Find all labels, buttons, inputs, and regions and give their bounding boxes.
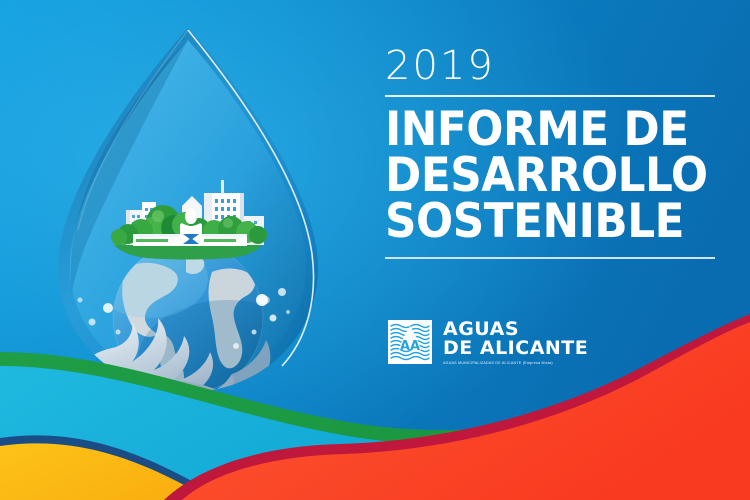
logo-wordmark: AGUAS DE ALICANTE AGUAS MUNICIPALIZADAS … <box>443 320 588 365</box>
title-line-3: SOSTENIBLE <box>385 199 692 245</box>
logo-line-2: DE ALICANTE <box>443 339 588 358</box>
title-line-2: DESARROLLO <box>385 153 692 199</box>
svg-text:AA: AA <box>400 339 420 354</box>
title-line-1: INFORME DE <box>385 107 692 153</box>
report-year: 2019 <box>385 46 715 86</box>
cover-text-block: 2019 INFORME DE DESARROLLO SOSTENIBLE <box>385 46 715 259</box>
report-title: INFORME DE DESARROLLO SOSTENIBLE <box>385 107 692 245</box>
divider-bottom <box>385 257 715 259</box>
aguas-de-alicante-logo[interactable]: AA AGUAS DE ALICANTE AGUAS MUNICIPALIZAD… <box>388 320 588 365</box>
report-cover: 2019 INFORME DE DESARROLLO SOSTENIBLE <box>0 0 750 500</box>
logo-subtitle: AGUAS MUNICIPALIZADAS DE ALICANTE (Empre… <box>443 361 588 365</box>
logo-mark-icon: AA <box>388 320 432 364</box>
divider-top <box>385 95 715 97</box>
